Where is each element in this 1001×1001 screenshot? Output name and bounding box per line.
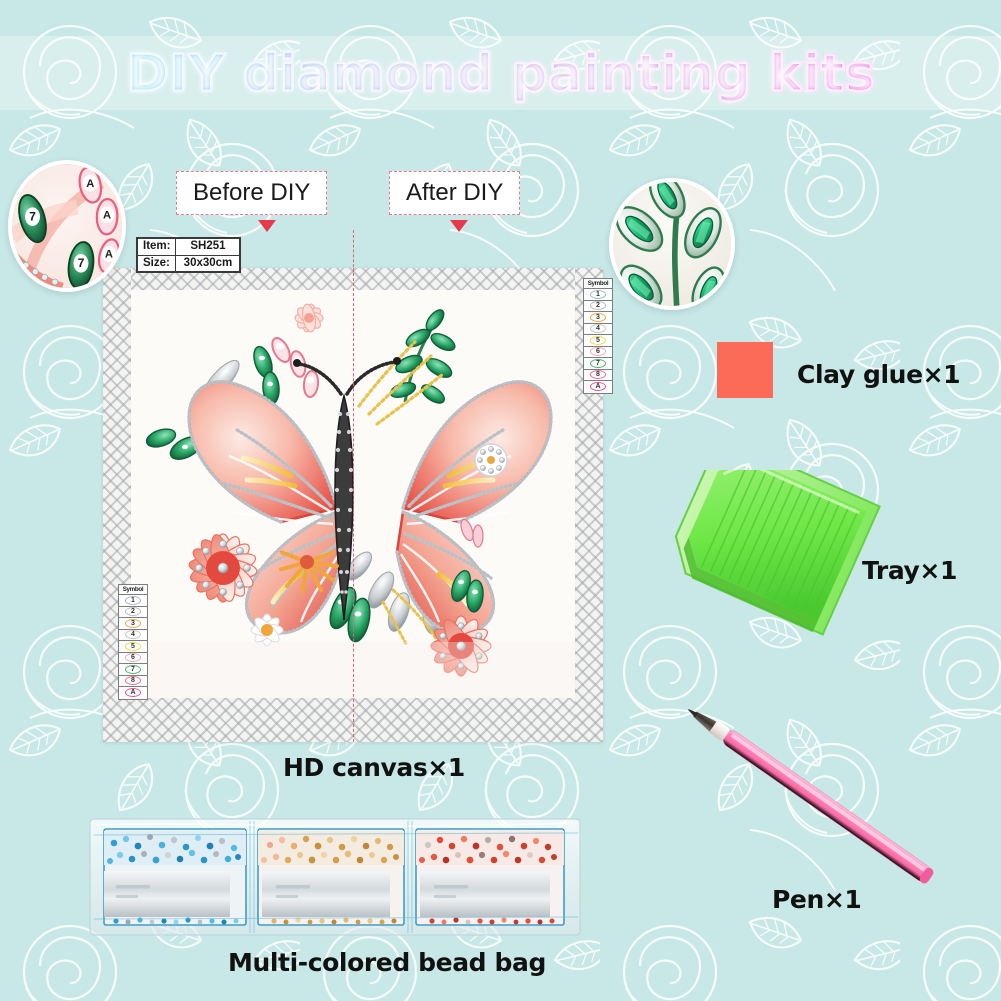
spec-row-size: Size: 30x30cm: [138, 255, 240, 272]
symbol-row-4: 4: [584, 324, 612, 336]
symbol-legend-rows: 12345678A: [584, 289, 612, 393]
zoom-detail-before: 7 7 A A A: [8, 160, 126, 292]
spec-size-value: 30x30cm: [176, 255, 240, 272]
symbol-row-2: 2: [119, 607, 147, 619]
hd-canvas-sheet: [103, 268, 603, 742]
svg-text:7: 7: [29, 209, 36, 223]
spec-size-key: Size:: [138, 255, 176, 272]
symbol-row-8: 8: [119, 676, 147, 688]
canvas-center-divider: [353, 268, 354, 742]
zoom-detail-after: [609, 178, 735, 310]
center-divider-upper: [353, 230, 354, 272]
symbol-mark-1: 1: [125, 596, 141, 605]
svg-text:A: A: [105, 249, 113, 261]
bead-bag-image: [86, 815, 584, 940]
symbol-row-5: 5: [119, 641, 147, 653]
symbol-row-1: 1: [119, 595, 147, 607]
symbol-mark-3: 3: [590, 313, 606, 322]
label-tray: Tray×1: [862, 556, 957, 585]
svg-text:7: 7: [78, 256, 85, 270]
symbol-row-5: 5: [584, 335, 612, 347]
symbol-legend-left: Symbol 12345678A: [118, 584, 148, 700]
spec-row-item: Item: SH251: [138, 239, 240, 256]
label-bead-bag: Multi-colored bead bag: [228, 948, 546, 977]
svg-text:A: A: [86, 178, 94, 190]
symbol-row-7: 7: [119, 664, 147, 676]
symbol-row-A: A: [584, 381, 612, 393]
symbol-row-6: 6: [119, 653, 147, 665]
symbol-mark-3: 3: [125, 619, 141, 628]
symbol-mark-1: 1: [590, 290, 606, 299]
symbol-row-4: 4: [119, 630, 147, 642]
symbol-mark-8: 8: [590, 370, 606, 379]
symbol-legend-header: Symbol: [119, 585, 147, 595]
symbol-row-3: 3: [584, 312, 612, 324]
label-hd-canvas: HD canvas×1: [283, 753, 465, 782]
symbol-row-8: 8: [584, 370, 612, 382]
symbol-mark-A: A: [590, 382, 606, 391]
symbol-mark-4: 4: [125, 630, 141, 639]
symbol-legend-right: Symbol 12345678A: [583, 278, 613, 394]
symbol-mark-A: A: [125, 688, 141, 697]
pointer-after-diy: [450, 220, 468, 232]
symbol-row-A: A: [119, 687, 147, 699]
label-before-diy: Before DIY: [176, 171, 327, 215]
page-title: DIY diamond painting kits: [0, 44, 1001, 106]
symbol-row-6: 6: [584, 347, 612, 359]
spec-item-key: Item:: [138, 239, 176, 256]
symbol-mark-4: 4: [590, 324, 606, 333]
spec-item-value: SH251: [176, 239, 240, 256]
pointer-before-diy: [258, 220, 276, 232]
symbol-row-2: 2: [584, 301, 612, 313]
symbol-mark-8: 8: [125, 676, 141, 685]
symbol-row-3: 3: [119, 618, 147, 630]
symbol-legend-rows: 12345678A: [119, 595, 147, 699]
symbol-mark-6: 6: [125, 653, 141, 662]
clay-glue-swatch: [717, 342, 773, 398]
symbol-mark-7: 7: [125, 665, 141, 674]
symbol-mark-6: 6: [590, 347, 606, 356]
label-pen: Pen×1: [772, 885, 861, 914]
symbol-mark-5: 5: [125, 642, 141, 651]
symbol-mark-2: 2: [590, 301, 606, 310]
symbol-mark-2: 2: [125, 607, 141, 616]
label-clay-glue: Clay glue×1: [797, 360, 960, 389]
symbol-mark-7: 7: [590, 359, 606, 368]
symbol-mark-5: 5: [590, 336, 606, 345]
spec-table: Item: SH251 Size: 30x30cm: [136, 237, 241, 273]
svg-text:A: A: [103, 210, 111, 222]
label-after-diy: After DIY: [389, 171, 520, 215]
symbol-legend-header: Symbol: [584, 279, 612, 289]
symbol-row-1: 1: [584, 289, 612, 301]
symbol-row-7: 7: [584, 358, 612, 370]
